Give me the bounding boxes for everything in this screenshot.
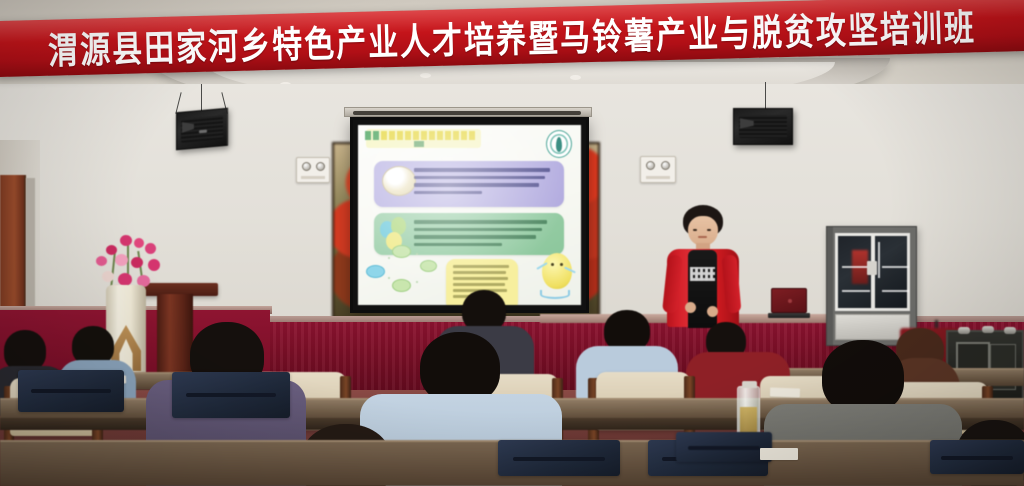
mascot-body [542, 253, 572, 289]
screen-roller [353, 111, 581, 115]
diagram-dot [388, 277, 390, 279]
panel-lamp-icon [646, 161, 655, 170]
case-latch [982, 326, 994, 333]
diagram-dot [388, 257, 390, 259]
document-paper[interactable] [760, 448, 798, 460]
glass-reflection [882, 290, 909, 292]
glass-reflection [842, 266, 870, 268]
laptop-base [768, 313, 810, 318]
mascot-eye [560, 263, 563, 266]
ceiling-downlight [570, 75, 581, 80]
slide-institution-logo [546, 130, 572, 158]
bag-strap [688, 446, 761, 450]
bag-strap [941, 456, 1012, 460]
presentation-slide [358, 125, 581, 305]
conference-bag[interactable] [676, 432, 772, 462]
speaker-suspension-wire [765, 82, 766, 110]
glass-reflection [882, 266, 909, 268]
presenter-eye [707, 229, 711, 231]
presenter-eye [693, 229, 697, 231]
cabinet-door-handle[interactable] [867, 261, 877, 275]
flower-bloom [134, 238, 144, 248]
logo-leaf-icon [556, 137, 562, 152]
conference-bag[interactable] [18, 370, 124, 412]
conference-bag[interactable] [498, 440, 620, 476]
laptop-lid [771, 288, 807, 313]
slide-block-purple [374, 161, 564, 207]
conference-bag[interactable] [930, 440, 1024, 474]
presenter-face [688, 216, 718, 246]
conference-room-photo: 渭源县田家河乡特色产业人才培养暨马铃薯产业与脱贫攻坚培训班 [0, 0, 1024, 486]
slide-subtitle-text [414, 141, 424, 147]
speaker-suspension-wire [201, 84, 202, 112]
flower-bloom [96, 256, 107, 266]
flower-bloom [145, 243, 156, 254]
bottle-cap [742, 381, 757, 388]
case-latch [1004, 327, 1016, 334]
flower-bloom [106, 245, 117, 255]
diagram-node [420, 260, 437, 272]
panel-lamp-icon [316, 162, 325, 171]
flower-bloom [115, 254, 128, 266]
flower-bloom [131, 257, 143, 268]
panel-slot [646, 176, 670, 180]
flower-bloom [148, 259, 160, 271]
diagram-node [392, 245, 411, 258]
slide-title-text [365, 131, 477, 140]
glass-reflection [842, 290, 870, 292]
potato-slice-image [382, 166, 416, 196]
glass-reflection [878, 242, 880, 278]
slide-node-diagram [366, 241, 444, 299]
diagram-node [392, 279, 411, 292]
mascot-eye [551, 263, 554, 266]
potato-mascot-icon [534, 249, 576, 301]
flower-bloom [120, 235, 132, 246]
slide-text-lines [414, 168, 556, 200]
ceiling-speaker-left [176, 108, 228, 151]
diagram-dot [416, 281, 418, 283]
panel-slot [301, 176, 324, 179]
ceiling-speaker-right [733, 108, 793, 145]
panel-lamp-icon [661, 161, 670, 170]
projection-screen [350, 117, 589, 313]
presenter-hand-right [707, 306, 718, 317]
ceiling-downlight [420, 73, 431, 78]
flower-bloom [102, 271, 114, 282]
bag-strap [513, 457, 606, 461]
wall-emergency-light-panel-right[interactable] [640, 156, 676, 183]
projection-screen-housing [344, 107, 592, 117]
presenter-mouth [698, 236, 707, 238]
bag-strap [31, 389, 112, 393]
diagram-dot [416, 253, 418, 255]
diagram-node-center [366, 265, 385, 278]
conference-bag[interactable] [172, 372, 290, 418]
mascot-base [540, 290, 570, 299]
panel-lamp-icon [302, 162, 311, 171]
attendee-head [822, 340, 904, 414]
shirt-print-text [690, 267, 715, 281]
wall-emergency-light-panel-left[interactable] [296, 157, 330, 183]
maroon-laptop [768, 288, 810, 318]
bag-strap [186, 393, 276, 397]
presenter-hand-left [685, 302, 696, 313]
